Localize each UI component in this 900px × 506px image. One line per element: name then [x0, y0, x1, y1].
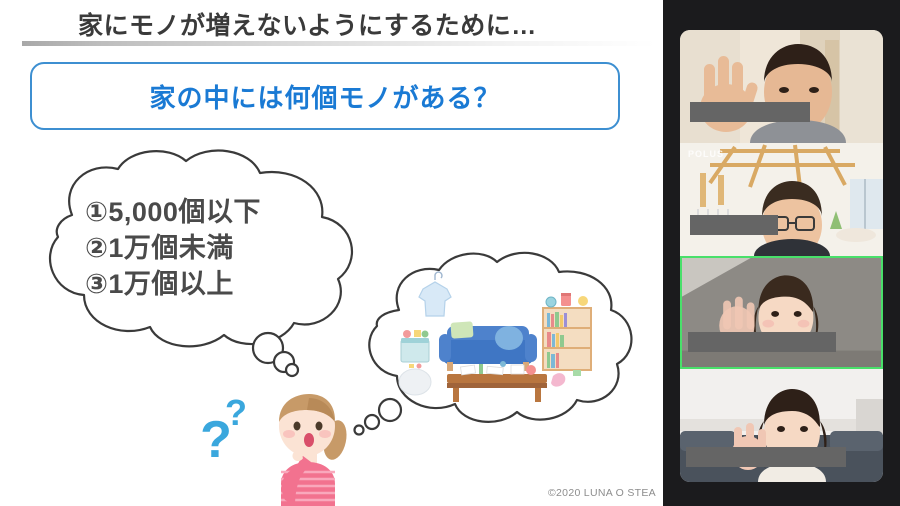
- coffee-table-icon: [447, 361, 547, 402]
- participant-1-video: [680, 30, 883, 143]
- toy-icon: [551, 373, 565, 387]
- options-thought-bubble: ①5,000個以下 ②1万個未満 ③1万個以上: [10, 145, 380, 360]
- participant-name-redaction-bar: [690, 102, 810, 122]
- bookshelf-icon: [543, 293, 591, 370]
- sofa-icon: [439, 321, 537, 371]
- video-tile-participant-4[interactable]: [680, 369, 883, 482]
- presentation-screen-share: 家にモノが増えないようにするために… 家の中には何個モノがある？ ①5,000個…: [0, 0, 900, 506]
- list-item: ③1万個以上: [85, 267, 375, 303]
- page-title: 家にモノが増えないようにするために…: [78, 6, 537, 42]
- thought-bubble-tail-left: [246, 332, 306, 382]
- video-participants-panel: POLUS: [663, 0, 900, 506]
- toy-box-icon: [401, 330, 429, 369]
- video-tile-participant-1[interactable]: [680, 30, 883, 143]
- shirt-on-hanger-icon: [419, 272, 451, 316]
- polus-watermark: POLUS: [688, 149, 724, 159]
- cushion-icon: [399, 369, 431, 395]
- svg-text:?: ?: [200, 411, 232, 469]
- list-item: ②1万個未満: [85, 231, 375, 267]
- living-room-illustration: [395, 270, 600, 405]
- girl-character-illustration: [255, 388, 360, 506]
- title-divider: [22, 41, 656, 46]
- copyright-notice: ©2020 LUNA O STEA: [548, 487, 656, 499]
- toy-block-icon: [573, 370, 581, 376]
- video-tile-participant-3[interactable]: [680, 256, 883, 369]
- participant-name-redaction-bar: [688, 332, 836, 352]
- slide-content-area: 家にモノが増えないようにするために… 家の中には何個モノがある？ ①5,000個…: [0, 0, 663, 506]
- participant-name-redaction-bar: [686, 447, 846, 467]
- participant-name-redaction-bar: [690, 215, 778, 235]
- options-list: ①5,000個以下 ②1万個未満 ③1万個以上: [85, 195, 375, 303]
- video-tile-participant-2[interactable]: POLUS: [680, 143, 883, 256]
- participant-2-video: [680, 143, 883, 256]
- question-text: 家の中には何個モノがある？: [149, 78, 500, 115]
- list-item: ①5,000個以下: [85, 195, 375, 231]
- question-callout-box: 家の中には何個モノがある？: [30, 62, 620, 130]
